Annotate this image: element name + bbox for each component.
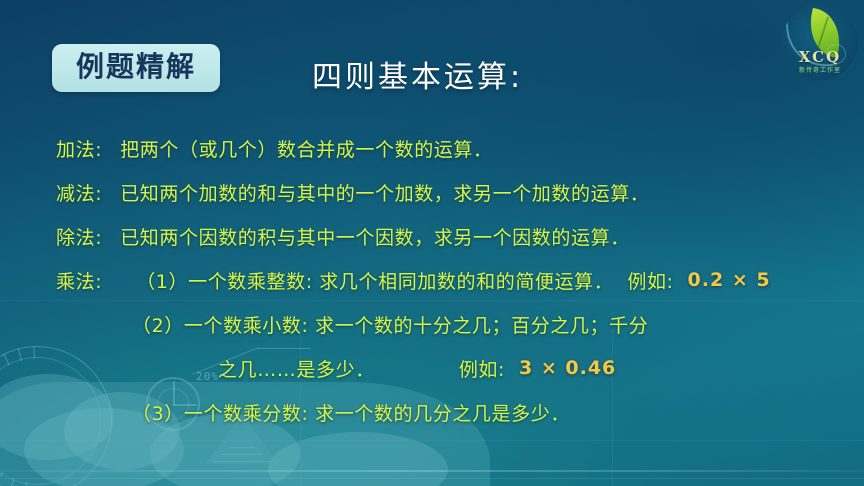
definition-text: 已知两个加数的和与其中的一个加数，求另一个加数的运算． <box>120 179 649 206</box>
bottom-divider-secondary <box>0 478 864 479</box>
logo-subtext: 新传奇工作室 <box>782 65 858 74</box>
item-number: （3） <box>132 399 184 426</box>
definition-row-division: 除法: 已知两个因数的积与其中一个因数，求另一个因数的运算． <box>0 214 864 258</box>
pyramid-line <box>221 454 263 455</box>
definition-text: 一个数乘整数: 求几个相同加数的和的简便运算． <box>188 267 613 294</box>
example-expression: 0.2 × 5 <box>688 269 771 291</box>
definition-text: 把两个（或几个）数合并成一个数的运算． <box>120 135 492 162</box>
pyramid-line <box>229 447 255 448</box>
term-label: 减法: <box>56 179 102 206</box>
section-badge: 例题精解 <box>52 44 220 92</box>
slide-canvas: 20% XCQ 新传奇工作室 例题精解 四则基本运算: 加法: <box>0 0 864 486</box>
definition-row-addition: 加法: 把两个（或几个）数合并成一个数的运算． <box>0 126 864 170</box>
grid-line <box>0 440 864 441</box>
item-number: （2） <box>132 311 184 338</box>
cloud-icon <box>268 432 448 486</box>
definition-text: 一个数乘分数: 求一个数的几分之几是多少． <box>184 399 570 426</box>
brand-logo: XCQ 新传奇工作室 <box>782 4 858 80</box>
definition-row-subtraction: 减法: 已知两个加数的和与其中的一个加数，求另一个加数的运算． <box>0 170 864 214</box>
definition-text: 之几……是多少． <box>218 355 375 382</box>
definition-row-multiplication-2: （2） 一个数乘小数: 求一个数的十分之几；百分之几；千分 <box>0 302 864 346</box>
example-label: 例如: <box>459 355 505 382</box>
example-label: 例如: <box>627 267 673 294</box>
term-label: 加法: <box>56 135 102 162</box>
definition-list: 加法: 把两个（或几个）数合并成一个数的运算． 减法: 已知两个加数的和与其中的… <box>0 126 864 434</box>
definition-row-multiplication-3: （3） 一个数乘分数: 求一个数的几分之几是多少． <box>0 390 864 434</box>
example-expression: 3 × 0.46 <box>519 357 616 379</box>
definition-text: 一个数乘小数: 求一个数的十分之几；百分之几；千分 <box>184 311 648 338</box>
term-label: 除法: <box>56 223 102 250</box>
term-label: 乘法: <box>56 267 102 294</box>
pyramid-line <box>213 461 271 462</box>
item-number: （1） <box>136 267 188 294</box>
definition-text: 已知两个因数的积与其中一个因数，求另一个因数的运算． <box>120 223 630 250</box>
bottom-divider <box>0 470 864 472</box>
page-title: 四则基本运算: <box>312 52 523 96</box>
section-badge-label: 例题精解 <box>76 53 196 81</box>
definition-row-multiplication-1: 乘法: （1） 一个数乘整数: 求几个相同加数的和的简便运算． 例如: 0.2 … <box>0 258 864 302</box>
definition-row-multiplication-2-cont: 之几……是多少． 例如: 3 × 0.46 <box>0 346 864 390</box>
logo-wordmark: XCQ <box>782 48 858 66</box>
